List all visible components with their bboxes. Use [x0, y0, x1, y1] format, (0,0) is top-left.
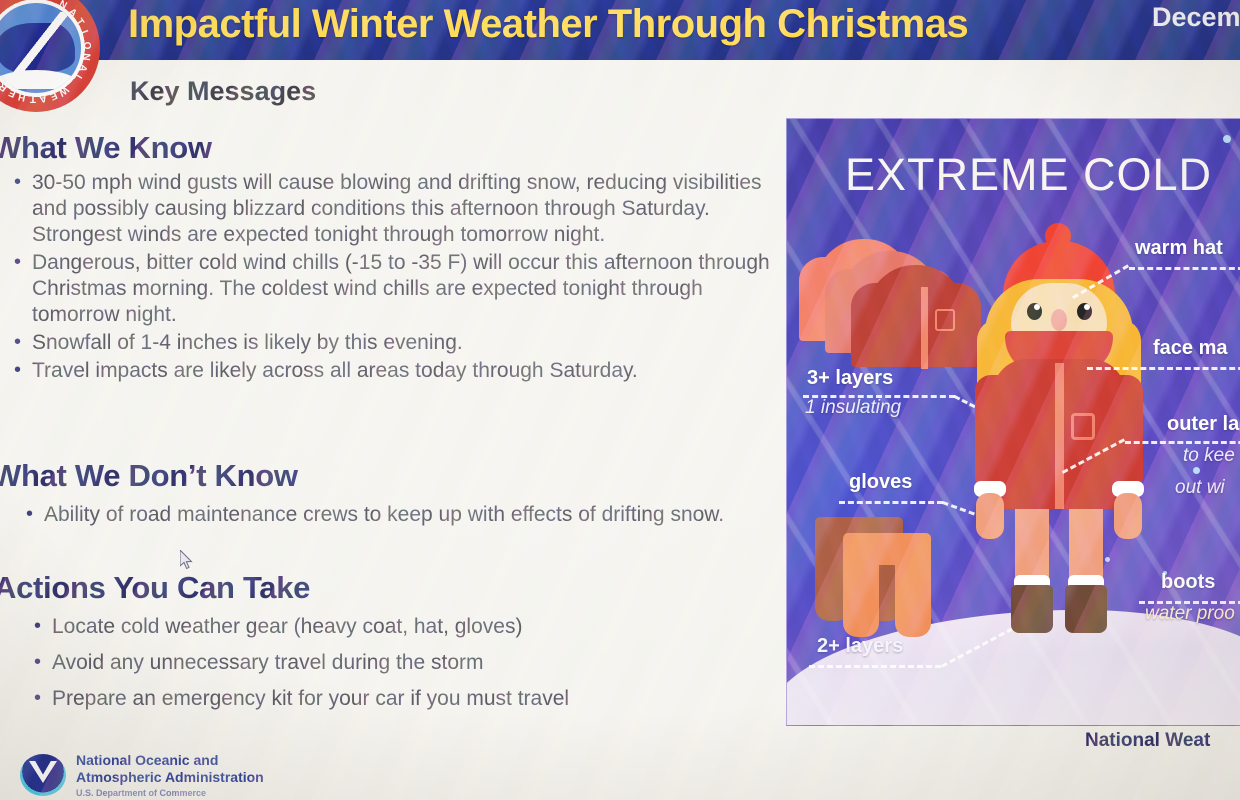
label-warm-hat: warm hat — [1135, 237, 1223, 260]
jacket-layers-icon — [799, 239, 949, 364]
label-outer-layer-sub2: out wi — [1175, 477, 1225, 499]
list-item: Snowfall of 1-4 inches is likely by this… — [10, 330, 780, 356]
noaa-department-line: U.S. Department of Commerce — [76, 788, 264, 798]
presentation-slide: Impactful Winter Weather Through Christm… — [0, 0, 1240, 800]
seal-star: ★ — [2, 95, 10, 106]
extreme-cold-infographic: EXTREME COLD 3+ layers 1 insulating glov… — [786, 118, 1240, 726]
list-item: Ability of road maintenance crews to kee… — [22, 502, 782, 528]
snow-dot — [1193, 467, 1200, 474]
coat-pocket — [1071, 413, 1095, 440]
section-heading-what-we-know: What We Know — [0, 130, 212, 166]
leader-line-gloves — [839, 501, 943, 504]
leader-line-pants — [809, 665, 941, 668]
bullet-list-actions-you-can-take: Locate cold weather gear (heavy coat, ha… — [30, 614, 770, 722]
label-face-mask: face ma — [1153, 337, 1228, 360]
hand-right — [1114, 493, 1142, 539]
slide-header-bar: Impactful Winter Weather Through Christm… — [0, 0, 1240, 60]
list-item: Prepare an emergency kit for your car if… — [30, 686, 770, 712]
noaa-line-2: Atmospheric Administration — [76, 769, 264, 786]
slide-body-content: What We Know 30-50 mph wind gusts will c… — [0, 120, 790, 720]
mouse-cursor — [180, 550, 194, 570]
list-item: 30-50 mph wind gusts will cause blowing … — [10, 170, 780, 248]
list-item: Locate cold weather gear (heavy coat, ha… — [30, 614, 770, 640]
leg-right — [1069, 499, 1103, 585]
pants-inner-layer — [843, 533, 931, 633]
seal-ring-text: N A T I O N A L W E A T H E R — [0, 0, 100, 112]
subtitle-key-messages: Key Messages — [130, 76, 316, 107]
section-heading-what-we-dont-know: What We Don’t Know — [0, 458, 298, 494]
label-gloves: gloves — [849, 471, 912, 494]
bullet-list-what-we-dont-know: Ability of road maintenance crews to kee… — [22, 502, 782, 530]
coat-zipper — [1055, 363, 1064, 509]
label-outer-layer-sub1: to kee — [1183, 445, 1235, 467]
bullet-list-what-we-know: 30-50 mph wind gusts will cause blowing … — [10, 170, 780, 386]
nose — [1051, 309, 1067, 331]
boot-right — [1065, 585, 1107, 633]
list-item: Avoid any unnecessary travel during the … — [30, 650, 770, 676]
label-boots-sub: water proo — [1145, 603, 1235, 625]
nws-footer-text: National Weat — [1085, 730, 1210, 752]
leg-left — [1015, 499, 1049, 585]
noaa-seal-icon — [20, 754, 66, 796]
leader-line-outer-layer — [1125, 441, 1240, 444]
seal-star: ★ — [50, 99, 58, 110]
header-date: Decem — [1152, 2, 1240, 33]
snow-dot — [1223, 135, 1231, 143]
noaa-line-1: National Oceanic and — [76, 752, 264, 769]
label-outer-layer: outer la — [1167, 413, 1239, 436]
noaa-footer-text: National Oceanic and Atmospheric Adminis… — [76, 752, 264, 798]
noaa-bird-glyph — [29, 761, 57, 783]
eye-right — [1077, 303, 1092, 320]
hand-left — [976, 493, 1004, 539]
list-item: Travel impacts are likely across all are… — [10, 358, 780, 384]
leader-line-face-mask — [1087, 367, 1240, 370]
seal-star: ★ — [34, 101, 42, 112]
national-weather-service-seal-icon: N A T I O N A L W E A T H E R ★ ★ ★ ★ — [0, 0, 100, 112]
label-jacket-layers: 3+ layers — [807, 367, 893, 390]
infographic-title: EXTREME COLD — [845, 149, 1212, 201]
label-jacket-layers-sub: 1 insulating — [805, 397, 901, 419]
leader-line-warm-hat — [1129, 267, 1240, 270]
eye-left — [1027, 303, 1042, 320]
label-boots: boots — [1161, 571, 1215, 594]
seal-star: ★ — [18, 99, 26, 110]
label-pants-layers: 2+ layers — [817, 635, 903, 658]
section-heading-actions-you-can-take: Actions You Can Take — [0, 570, 310, 606]
pants-layers-icon — [815, 517, 955, 627]
person-illustration — [959, 223, 1159, 643]
page-title: Impactful Winter Weather Through Christm… — [128, 2, 968, 47]
boot-left — [1011, 585, 1053, 633]
list-item: Dangerous, bitter cold wind chills (-15 … — [10, 250, 780, 328]
noaa-footer: National Oceanic and Atmospheric Adminis… — [20, 752, 360, 800]
